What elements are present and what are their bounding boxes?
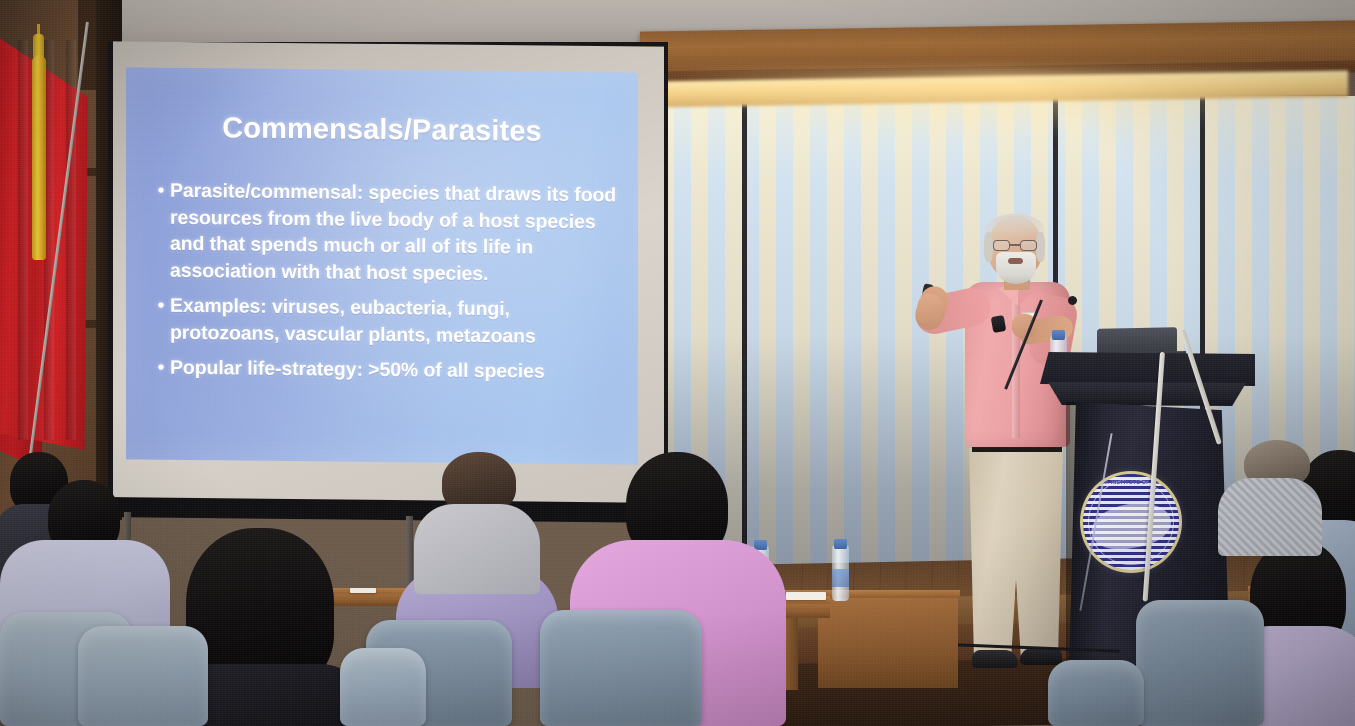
bullet-marker-icon: • bbox=[152, 293, 170, 346]
chair bbox=[1136, 600, 1264, 726]
chair bbox=[1048, 660, 1144, 726]
bullet-marker-icon: • bbox=[152, 178, 170, 284]
list-item: • Parasite/commensal: species that draws… bbox=[152, 178, 624, 289]
presenter-mouth bbox=[1008, 258, 1023, 264]
presentation-slide: Commensals/Parasites • Parasite/commensa… bbox=[126, 67, 638, 464]
list-item: • Popular life-strategy: >50% of all spe… bbox=[152, 355, 624, 386]
slide-bullet-text: Examples: viruses, eubacteria, fungi, pr… bbox=[170, 293, 624, 351]
flag-tassel bbox=[32, 55, 46, 260]
bottle-cap bbox=[834, 539, 847, 549]
lecture-hall-photo: Commensals/Parasites • Parasite/commensa… bbox=[0, 0, 1355, 726]
audience-body bbox=[1218, 478, 1322, 556]
screen-stand-leg bbox=[406, 516, 413, 586]
paper-sheet bbox=[350, 588, 376, 593]
slide-title: Commensals/Parasites bbox=[126, 111, 638, 149]
audience-body bbox=[414, 504, 540, 594]
slide-bullet-list: • Parasite/commensal: species that draws… bbox=[152, 178, 624, 395]
bullet-marker-icon: • bbox=[152, 355, 170, 382]
podium-top bbox=[1040, 352, 1255, 386]
eyeglass-lens-right bbox=[1020, 240, 1037, 251]
bottle-label bbox=[832, 569, 849, 587]
presenter-hair-side bbox=[984, 232, 993, 262]
chair bbox=[540, 610, 702, 726]
eyeglass-bridge bbox=[1010, 244, 1020, 246]
chair bbox=[340, 648, 426, 726]
wristwatch bbox=[991, 315, 1007, 333]
presenter-shoe-left bbox=[972, 650, 1018, 668]
microphone-capsule bbox=[1068, 296, 1077, 305]
presenter-hair-side bbox=[1036, 232, 1045, 262]
institution-seal: SOUTH CHINA SEA INSTITUTE OF OCEANOLOGY … bbox=[1083, 474, 1179, 570]
presenter-shoe-right bbox=[1020, 648, 1062, 665]
chair bbox=[78, 626, 208, 726]
flag-fold bbox=[66, 40, 76, 440]
flag-fold bbox=[18, 40, 28, 440]
eyeglasses-icon bbox=[993, 240, 1037, 251]
bottle-cap bbox=[1052, 330, 1065, 340]
list-item: • Examples: viruses, eubacteria, fungi, … bbox=[152, 293, 624, 351]
slide-bullet-text: Parasite/commensal: species that draws i… bbox=[170, 178, 624, 289]
presenter-beard bbox=[996, 252, 1036, 284]
audience-table bbox=[818, 598, 958, 688]
eyeglass-lens-left bbox=[993, 240, 1010, 251]
seal-text: SOUTH CHINA SEA INSTITUTE OF OCEANOLOGY … bbox=[1083, 474, 1179, 570]
paper-sheet bbox=[786, 592, 826, 600]
table-leg bbox=[786, 610, 798, 690]
slide-bullet-text: Popular life-strategy: >50% of all speci… bbox=[170, 355, 624, 386]
